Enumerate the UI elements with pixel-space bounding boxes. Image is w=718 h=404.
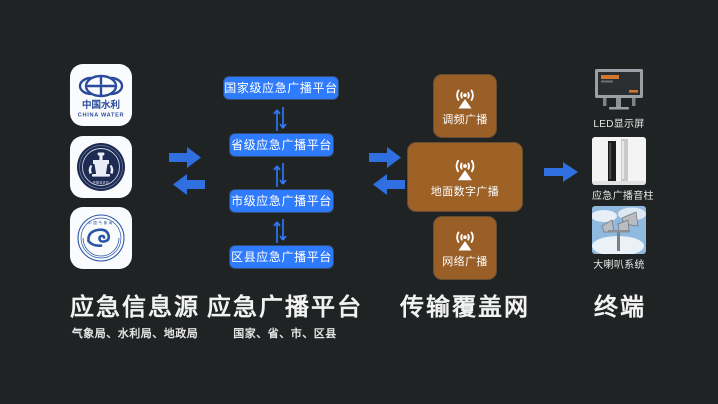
terminal-led-display-screen: LED显示屏 — [589, 66, 649, 130]
china-earthquake-administration-logo-icon: 中国地震局 — [73, 139, 129, 195]
platform-box-district[interactable]: 区县应急广播平台 — [230, 246, 333, 268]
transmission-box-fm[interactable]: 调频广播 — [434, 75, 496, 137]
broadcast-tower-icon — [450, 228, 480, 252]
china-water-logo-icon: 中国水利 CHINA WATER — [73, 67, 129, 123]
bidirectional-arrow-icon — [272, 217, 288, 245]
section-title: 终端 — [594, 296, 646, 320]
source-logo-china-water: 中国水利 CHINA WATER — [70, 64, 132, 126]
transmission-label: 调频广播 — [442, 115, 488, 126]
horn-loudspeaker-icon — [592, 206, 646, 254]
section-caption-platforms: 应急广播平台 国家、省、市、区县 — [190, 296, 380, 340]
platform-link-2 — [272, 161, 288, 187]
terminal-label: 应急广播音柱 — [592, 192, 646, 202]
section-title: 应急广播平台 — [207, 296, 363, 320]
source-logo-china-meteorological-administration: 中国气象局 — [70, 207, 132, 269]
terminal-horn-loudspeaker: 大喇叭系统 — [592, 206, 646, 271]
section-subtitle: 气象局、水利局、地政局 — [72, 329, 199, 340]
transmission-label: 网络广播 — [442, 257, 488, 268]
speaker-column-icon — [592, 137, 646, 185]
connector-source-to-platform — [165, 141, 209, 202]
section-caption-transmission: 传输覆盖网 — [375, 296, 555, 329]
arrow-left-icon — [373, 174, 405, 195]
arrow-right-icon — [542, 160, 582, 184]
terminal-label: LED显示屏 — [589, 120, 649, 130]
connector-transmission-to-terminal — [542, 160, 582, 189]
platform-box-national[interactable]: 国家级应急广播平台 — [224, 77, 338, 99]
svg-text:中国地震局: 中国地震局 — [93, 180, 109, 185]
arrow-right-icon — [365, 141, 409, 197]
svg-text:中国气象局: 中国气象局 — [88, 220, 114, 225]
svg-text:中国水利: 中国水利 — [82, 99, 120, 111]
platform-link-3 — [272, 217, 288, 243]
terminal-label: 大喇叭系统 — [592, 261, 646, 271]
bidirectional-arrow-icon — [272, 161, 288, 189]
section-title: 传输覆盖网 — [400, 296, 530, 320]
arrow-left-icon — [173, 174, 205, 195]
transmission-box-network[interactable]: 网络广播 — [434, 217, 496, 279]
section-title: 应急信息源 — [70, 296, 200, 320]
broadcast-tower-icon — [450, 86, 480, 110]
transmission-box-terrestrial-digital[interactable]: 地面数字广播 — [408, 143, 522, 211]
bidirectional-arrow-icon — [272, 105, 288, 133]
platform-box-provincial[interactable]: 省级应急广播平台 — [230, 134, 333, 156]
broadcast-tower-icon — [449, 156, 481, 182]
source-logo-china-earthquake-administration: 中国地震局 — [70, 136, 132, 198]
platform-link-1 — [272, 105, 288, 131]
led-display-screen-icon — [589, 66, 649, 112]
section-subtitle: 国家、省、市、区县 — [233, 329, 337, 340]
arrow-right-icon — [165, 141, 209, 197]
connector-platform-to-transmission — [365, 141, 409, 202]
svg-text:CHINA WATER: CHINA WATER — [78, 113, 125, 119]
terminal-speaker-column: 应急广播音柱 — [592, 137, 646, 202]
china-meteorological-administration-logo-icon: 中国气象局 — [73, 210, 129, 266]
diagram-canvas: 中国水利 CHINA WATER 中国地震局 — [0, 0, 718, 404]
section-caption-terminals: 终端 — [560, 296, 680, 329]
platform-box-municipal[interactable]: 市级应急广播平台 — [230, 190, 333, 212]
transmission-label: 地面数字广播 — [431, 187, 499, 198]
